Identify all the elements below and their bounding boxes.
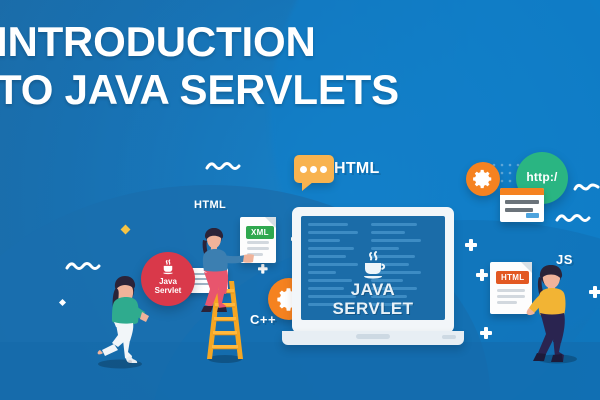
browser-card-button bbox=[526, 213, 539, 218]
squiggle-icon bbox=[556, 212, 590, 224]
person-holding-java-servlet-badge bbox=[78, 272, 164, 368]
gear-icon bbox=[466, 162, 500, 196]
browser-card-header bbox=[500, 188, 544, 195]
laptop-screen: JAVA SERVLET bbox=[301, 216, 445, 320]
http-badge-label: http:/ bbox=[516, 170, 568, 184]
laptop-illustration: JAVA SERVLET bbox=[282, 207, 464, 357]
title-line-1: INTRODUCTION bbox=[0, 18, 316, 65]
laptop-screen-brand: JAVA SERVLET bbox=[301, 236, 445, 318]
laptop-screen-label-line1: JAVA bbox=[301, 280, 445, 299]
squiggle-icon bbox=[206, 160, 240, 172]
squiggle-icon bbox=[66, 260, 100, 272]
person-on-ladder bbox=[190, 228, 260, 312]
cpp-label: C++ bbox=[250, 312, 276, 327]
illustration-banner: INTRODUCTION TO JAVA SERVLETS HTML HTML … bbox=[0, 0, 600, 400]
banner-title: INTRODUCTION TO JAVA SERVLETS bbox=[0, 18, 466, 114]
java-cup-icon bbox=[356, 250, 390, 282]
chat-bubble-icon bbox=[294, 155, 334, 183]
laptop-base bbox=[282, 331, 464, 345]
browser-card bbox=[500, 188, 544, 222]
title-line-2: TO JAVA SERVLETS bbox=[0, 66, 466, 114]
person-carrying-html-document bbox=[525, 263, 591, 363]
laptop-lid: JAVA SERVLET bbox=[292, 207, 454, 333]
laptop-screen-label-line2: SERVLET bbox=[301, 299, 445, 318]
html-label-left: HTML bbox=[194, 199, 226, 211]
squiggle-icon bbox=[574, 182, 600, 193]
html-label-top: HTML bbox=[334, 160, 380, 178]
